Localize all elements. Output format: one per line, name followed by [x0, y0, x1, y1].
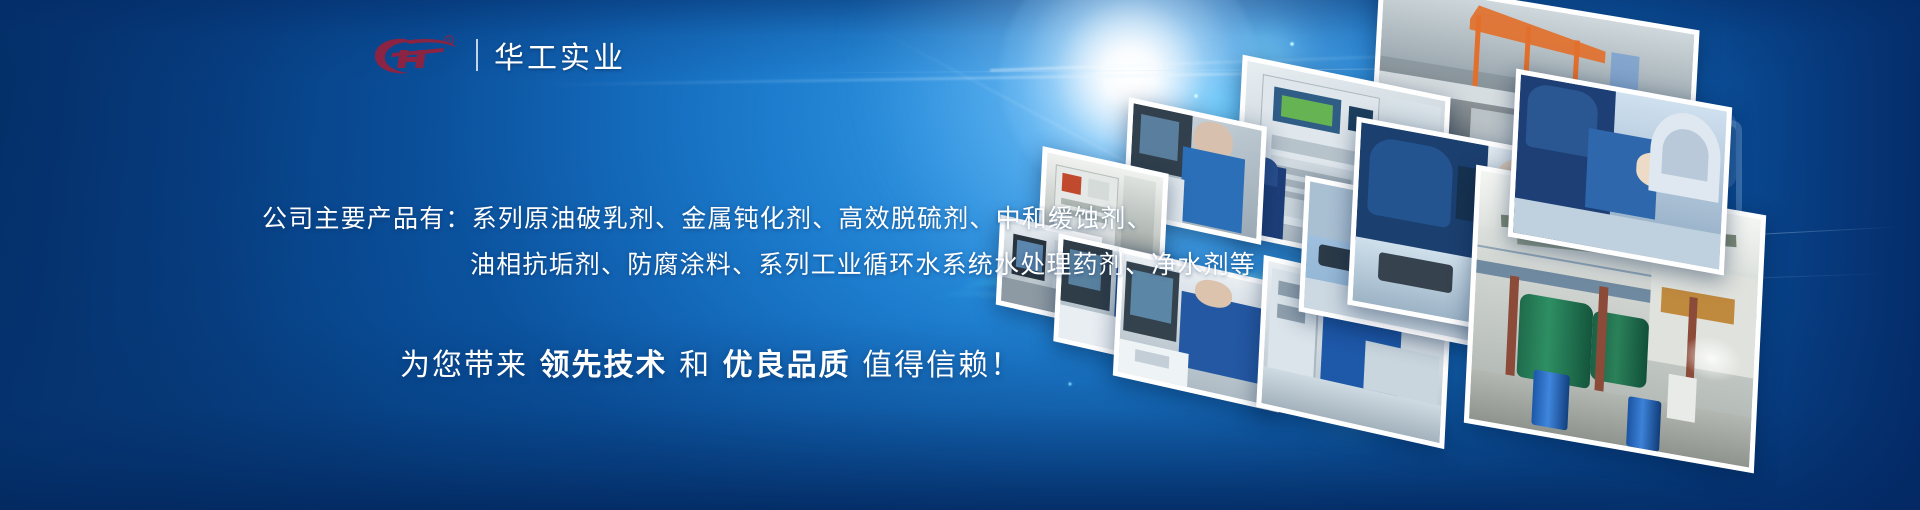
- slogan-highlight-quality: 优良品质: [723, 348, 851, 383]
- slogan: 为您带来 领先技术 和 优良品质 值得信赖！: [400, 340, 1022, 384]
- products-line-2: 油相抗垢剂、防腐涂料、系列工业循环水系统水处理药剂、净水剂等: [0, 242, 1160, 288]
- logo-divider: [476, 39, 478, 71]
- hero-banner: R 华工实业 公司主要产品有：系列原油破乳剂、金属钝化剂、高效脱硫剂、中和缓蚀剂…: [0, 0, 1920, 510]
- svg-text:R: R: [447, 38, 451, 44]
- product-description: 公司主要产品有：系列原油破乳剂、金属钝化剂、高效脱硫剂、中和缓蚀剂、 油相抗垢剂…: [0, 196, 1160, 288]
- company-name: 华工实业: [494, 33, 626, 77]
- slogan-part-3: 和: [679, 348, 711, 383]
- slogan-part-1: 为您带来: [400, 348, 528, 383]
- hg-monogram-logo: R: [370, 32, 462, 78]
- slogan-highlight-technology: 领先技术: [540, 348, 668, 383]
- company-logo[interactable]: R 华工实业: [370, 30, 626, 80]
- products-line-1: 公司主要产品有：系列原油破乳剂、金属钝化剂、高效脱硫剂、中和缓蚀剂、: [0, 196, 1160, 242]
- slogan-part-5: 值得信赖！: [862, 348, 1022, 383]
